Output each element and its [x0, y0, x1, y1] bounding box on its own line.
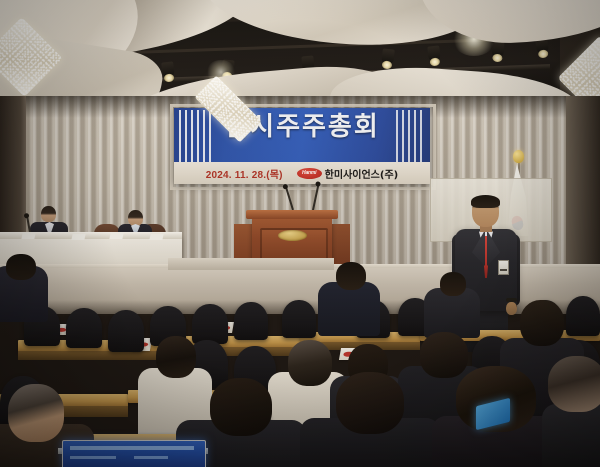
meeting-banner: 임시주주총회 2024. 11. 28.(목) Hanmi 한미사이언스(주) — [174, 108, 430, 184]
id-badge-icon — [498, 260, 509, 275]
banner-company-name: 한미사이언스(주) — [325, 166, 399, 181]
audience-chair — [192, 304, 228, 344]
laptop-screen-content — [70, 446, 194, 450]
hanmi-logo-icon: Hanmi — [297, 168, 322, 179]
stage-step — [168, 258, 334, 270]
audience-chair — [282, 300, 316, 338]
audience-desk-front — [18, 351, 168, 360]
audience-chair — [234, 302, 268, 340]
laptop-screen — [62, 440, 206, 467]
banner-company-block: Hanmi 한미사이언스(주) — [297, 166, 399, 181]
banner-footer: 2024. 11. 28.(목) Hanmi 한미사이언스(주) — [174, 162, 430, 184]
flag-finial-icon — [513, 150, 524, 163]
audience-chair — [566, 296, 600, 336]
podium-emblem-icon — [278, 230, 307, 241]
audience-chair — [108, 310, 144, 352]
podium-top — [246, 210, 338, 219]
spotlight — [427, 45, 441, 61]
staff-hand-right — [506, 302, 517, 315]
conference-hall-photo: 임시주주총회 2024. 11. 28.(목) Hanmi 한미사이언스(주) — [0, 0, 600, 467]
hanmi-logo-text: Hanmi — [302, 170, 316, 176]
banner-headline: 임시주주총회 — [174, 114, 430, 140]
audience-chair — [66, 308, 102, 348]
laptop-screen-content — [70, 456, 116, 459]
laptop-screen-content — [134, 456, 168, 459]
document-paper — [149, 234, 163, 240]
staff-hair — [471, 195, 500, 208]
document-paper — [21, 233, 35, 239]
document-paper — [71, 234, 85, 240]
document-paper — [109, 233, 123, 239]
spotlight — [161, 61, 175, 77]
banner-date: 2024. 11. 28.(목) — [206, 166, 283, 181]
